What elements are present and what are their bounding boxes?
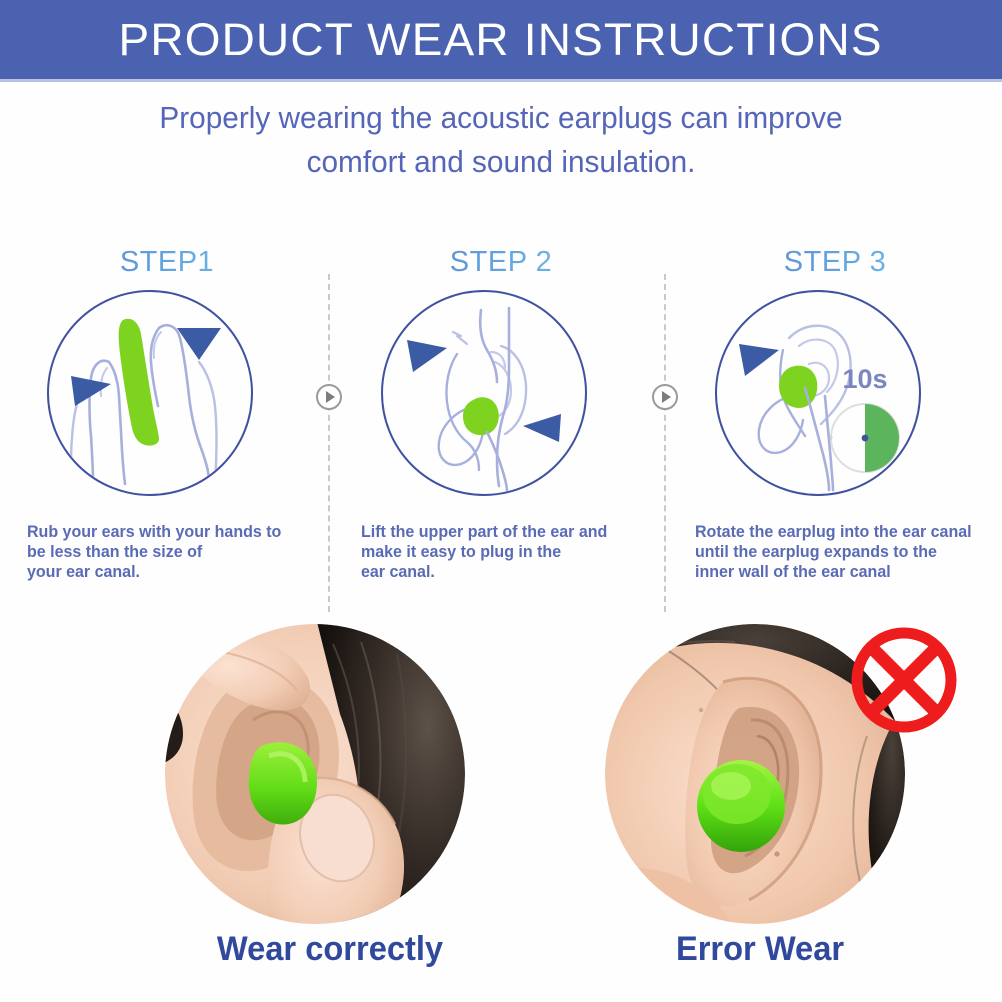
- photo-error-caption: Error Wear: [549, 930, 971, 969]
- header-underline: [0, 79, 1002, 82]
- step-1-label: STEP1: [0, 246, 334, 279]
- step-2-caption: Lift the upper part of the ear and make …: [361, 522, 652, 582]
- ear-with-earplug-inserted-photo: [165, 624, 465, 924]
- step-2-label: STEP 2: [334, 246, 668, 279]
- play-triangle: [326, 391, 335, 403]
- photo-correct-caption: Wear correctly: [119, 930, 541, 969]
- step-1-caption-line-3: your ear canal.: [27, 562, 318, 582]
- timer-label: 10s: [842, 364, 887, 394]
- header-bar: PRODUCT WEAR INSTRUCTIONS: [0, 0, 1002, 79]
- arrow-triangle: [71, 376, 111, 406]
- arrow-triangle: [739, 344, 779, 376]
- subtitle-line-1: Properly wearing the acoustic earplugs c…: [20, 96, 982, 140]
- step-1-caption: Rub your ears with your hands to be less…: [27, 522, 318, 582]
- photo-correct: Wear correctly: [110, 612, 550, 1002]
- step-3-caption-line-2: until the earplug expands to the: [695, 542, 1002, 562]
- step-2-caption-line-3: ear canal.: [361, 562, 652, 582]
- step-2: STEP 2: [334, 232, 668, 612]
- earplug-in-ear-timer-icon: 10s: [715, 290, 921, 496]
- play-triangle: [662, 391, 671, 403]
- page-title: PRODUCT WEAR INSTRUCTIONS: [119, 14, 883, 66]
- photo-error: Error Wear: [540, 612, 980, 1002]
- hand-lifting-ear-icon: [381, 290, 587, 496]
- steps-section: STEP1 Rub your ears w: [0, 232, 1002, 612]
- step-3-caption: Rotate the earplug into the ear canal un…: [695, 522, 1002, 582]
- step-1-caption-line-1: Rub your ears with your hands to: [27, 522, 318, 542]
- arrow-triangle: [523, 414, 561, 442]
- red-circle-x-prohibition-icon: [846, 622, 962, 738]
- step-2-caption-line-1: Lift the upper part of the ear and: [361, 522, 652, 542]
- subtitle: Properly wearing the acoustic earplugs c…: [20, 96, 982, 184]
- step-3-caption-line-3: inner wall of the ear canal: [695, 562, 1002, 582]
- play-arrow-icon: [652, 384, 678, 410]
- subtitle-line-2: comfort and sound insulation.: [20, 140, 982, 184]
- step-1: STEP1 Rub your ears w: [0, 232, 334, 612]
- arrow-triangle: [407, 340, 447, 372]
- fingers-rolling-earplug-icon: [47, 290, 253, 496]
- step-3-caption-line-1: Rotate the earplug into the ear canal: [695, 522, 1002, 542]
- play-arrow-icon: [316, 384, 342, 410]
- step-1-caption-line-2: be less than the size of: [27, 542, 318, 562]
- step-2-caption-line-2: make it easy to plug in the: [361, 542, 652, 562]
- step-3-label: STEP 3: [668, 246, 1002, 279]
- step-3: STEP 3 10: [668, 232, 1002, 612]
- photos-section: Wear correctly: [0, 612, 1002, 1002]
